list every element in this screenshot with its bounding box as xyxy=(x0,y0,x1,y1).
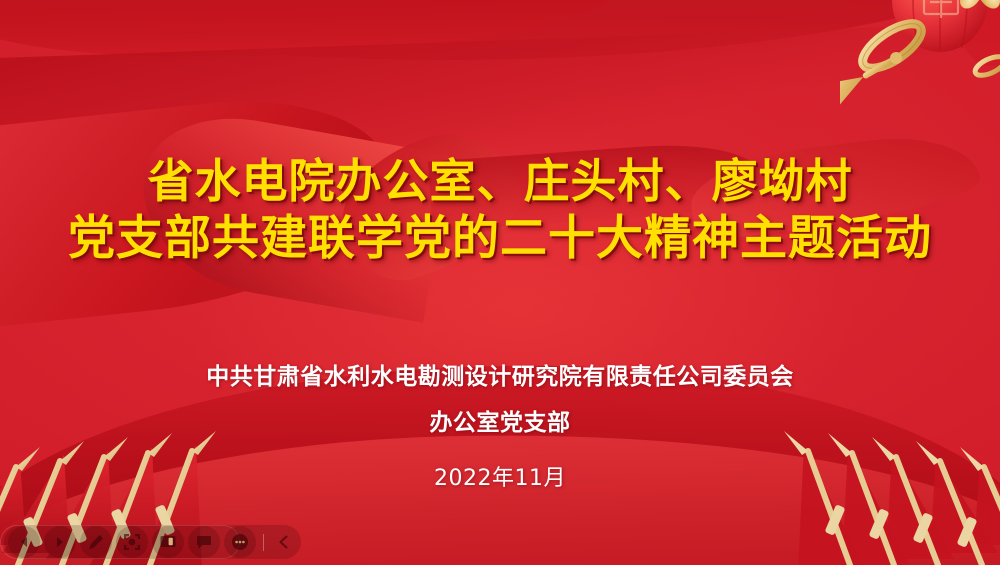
slide-content: 省水电院办公室、庄头村、廖坳村 党支部共建联学党的二十大精神主题活动 中共甘肃省… xyxy=(0,0,1000,565)
slide-title: 省水电院办公室、庄头村、廖坳村 党支部共建联学党的二十大精神主题活动 xyxy=(0,152,1000,268)
organization-line-2: 办公室党支部 xyxy=(206,400,794,446)
slide-title-line-1: 省水电院办公室、庄头村、廖坳村 xyxy=(0,152,1000,210)
next-slide-button[interactable] xyxy=(44,526,76,558)
organization-block: 中共甘肃省水利水电勘测设计研究院有限责任公司委员会 办公室党支部 xyxy=(206,354,794,446)
collapse-toolbar-button[interactable] xyxy=(269,527,299,557)
more-options-button[interactable] xyxy=(224,526,256,558)
presenter-toolbar[interactable] xyxy=(4,525,301,559)
slide-title-line-2: 党支部共建联学党的二十大精神主题活动 xyxy=(0,210,1000,268)
previous-slide-button[interactable] xyxy=(8,526,40,558)
presentation-slide: 省水电院办公室、庄头村、廖坳村 党支部共建联学党的二十大精神主题活动 中共甘肃省… xyxy=(0,0,1000,565)
presentation-view-button[interactable] xyxy=(152,526,184,558)
slide-date: 2022年11月 xyxy=(434,460,566,492)
pen-tool-button[interactable] xyxy=(80,526,112,558)
laser-pointer-button[interactable] xyxy=(116,526,148,558)
organization-line-1: 中共甘肃省水利水电勘测设计研究院有限责任公司委员会 xyxy=(206,354,794,400)
notes-button[interactable] xyxy=(188,526,220,558)
toolbar-divider xyxy=(263,534,264,551)
